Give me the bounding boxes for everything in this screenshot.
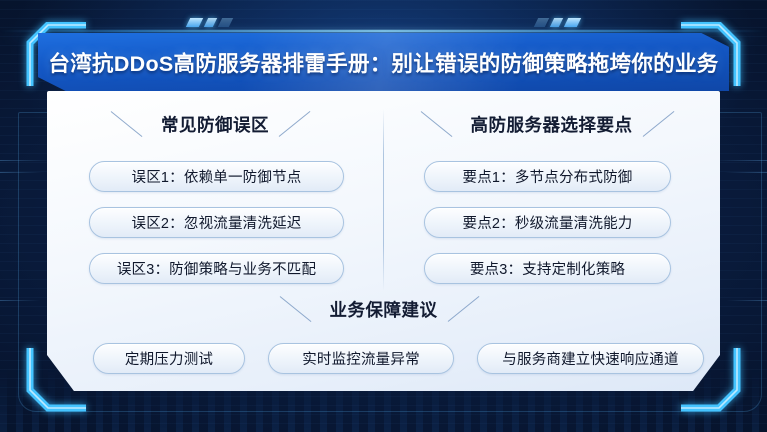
background-glow-line	[0, 30, 767, 32]
list-item: 要点3：支持定制化策略	[424, 253, 671, 284]
list-item: 误区1：依赖单一防御节点	[89, 161, 344, 192]
background-line-right-2	[725, 172, 767, 173]
list-item: 要点2：秒级流量清洗能力	[424, 207, 671, 238]
tick-mark-icon	[218, 18, 233, 27]
infographic-canvas: 台湾抗DDoS高防服务器排雷手册：别让错误的防御策略拖垮你的业务 常见防御误区 …	[0, 0, 767, 432]
slash-decoration-icon	[111, 111, 145, 137]
list-item-label: 误区3：防御策略与业务不匹配	[117, 258, 316, 279]
list-item-label: 误区1：依赖单一防御节点	[132, 166, 302, 187]
decorative-ticks-right	[536, 18, 579, 27]
list-item: 误区3：防御策略与业务不匹配	[89, 253, 344, 284]
decorative-ticks-left	[188, 18, 231, 27]
list-item-label: 误区2：忽视流量清洗延迟	[132, 212, 302, 233]
list-item: 实时监控流量异常	[268, 343, 454, 374]
title-banner: 台湾抗DDoS高防服务器排雷手册：别让错误的防御策略拖垮你的业务	[38, 33, 729, 91]
list-item: 与服务商建立快速响应通道	[477, 343, 704, 374]
slash-decoration-icon	[454, 296, 488, 322]
section-heading-recommendations: 业务保障建议	[47, 296, 720, 322]
list-item: 定期压力测试	[93, 343, 245, 374]
section-heading-misconceptions: 常见防御误区	[47, 111, 383, 137]
list-item-label: 要点2：秒级流量清洗能力	[463, 212, 633, 233]
section-title-bottom: 业务保障建议	[330, 297, 438, 322]
list-item-label: 定期压力测试	[125, 348, 213, 369]
list-item-label: 要点1：多节点分布式防御	[463, 166, 633, 187]
list-item-label: 与服务商建立快速响应通道	[502, 348, 678, 369]
background-line-left-1	[0, 160, 54, 161]
page-title: 台湾抗DDoS高防服务器排雷手册：别让错误的防御策略拖垮你的业务	[48, 47, 718, 78]
background-line-right-1	[713, 160, 767, 161]
background-line-left-3	[0, 300, 40, 301]
section-title-left: 常见防御误区	[161, 112, 269, 137]
list-item: 误区2：忽视流量清洗延迟	[89, 207, 344, 238]
tick-mark-icon	[564, 18, 581, 27]
slash-decoration-icon	[285, 111, 319, 137]
list-item-label: 要点3：支持定制化策略	[470, 258, 625, 279]
tick-mark-icon	[186, 18, 203, 27]
list-item: 要点1：多节点分布式防御	[424, 161, 671, 192]
tick-mark-icon	[534, 18, 549, 27]
tick-mark-icon	[550, 18, 563, 27]
section-heading-selection-points: 高防服务器选择要点	[383, 111, 720, 137]
slash-decoration-icon	[649, 111, 683, 137]
background-line-left-2	[0, 172, 42, 173]
background-line-right-3	[727, 300, 767, 301]
slash-decoration-icon	[421, 111, 455, 137]
slash-decoration-icon	[280, 296, 314, 322]
content-panel: 常见防御误区 高防服务器选择要点 误区1：依赖单一防御节点 误区2：忽视流量清洗…	[47, 91, 720, 391]
tick-mark-icon	[204, 18, 217, 27]
list-item-label: 实时监控流量异常	[302, 348, 420, 369]
section-title-right: 高防服务器选择要点	[471, 112, 633, 137]
